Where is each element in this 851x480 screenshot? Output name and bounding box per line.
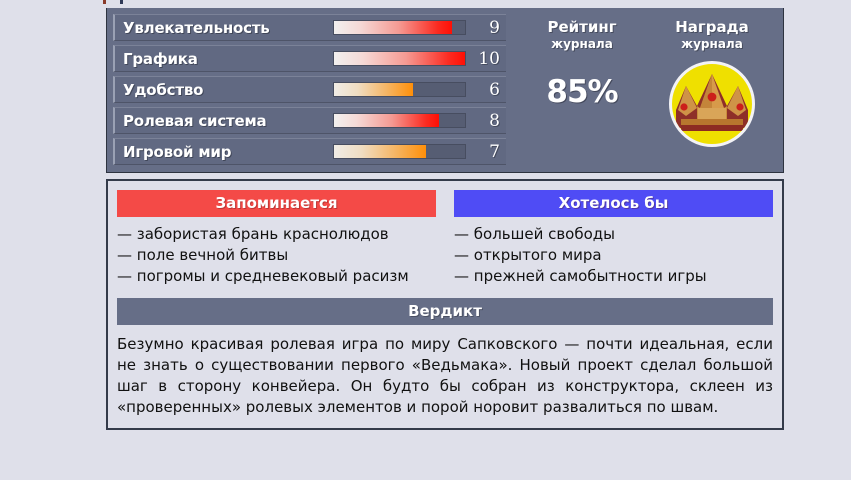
magazine-award-block: Награда журнала [647,18,777,166]
score-row: Удобство 6 [113,76,506,103]
score-value: 7 [472,142,506,162]
wants-list: — большей свободы — открытого мира — пре… [454,224,773,287]
wants-column: Хотелось бы — большей свободы — открытог… [454,190,773,287]
score-row: Графика 10 [113,45,506,72]
score-label: Ролевая система [123,112,333,130]
score-bar-track [333,20,466,35]
score-label: Увлекательность [123,19,333,37]
score-bar-fill [334,145,426,158]
award-subtitle: журнала [647,36,777,52]
likes-list: — забористая брань краснолюдов — поле ве… [117,224,436,287]
list-item: — открытого мира [454,245,773,266]
rating-subtitle: журнала [517,36,647,52]
score-rows-list: Увлекательность 9 Графика 10 Удобство 6 [107,8,511,172]
score-label: Игровой мир [123,143,333,161]
verdict-heading: Вердикт [117,298,773,325]
list-item: — прежней самобытности игры [454,266,773,287]
score-bar-fill [334,83,413,96]
score-value: 8 [472,111,506,131]
score-label: Графика [123,50,333,68]
crown-icon [672,64,752,144]
award-title: Награда [647,18,777,36]
magazine-rating-block: Рейтинг журнала 85% [517,18,647,166]
score-row: Ролевая система 8 [113,107,506,134]
score-value: 6 [472,80,506,100]
list-item: — погромы и средневековый расизм [117,266,436,287]
score-bar-fill [334,114,439,127]
stray-pixel-left [103,0,106,4]
score-row: Увлекательность 9 [113,14,506,41]
rating-title: Рейтинг [517,18,647,36]
stray-pixel-right [120,0,123,4]
score-value: 9 [472,18,506,38]
list-item: — поле вечной битвы [117,245,436,266]
score-bar-track [333,82,466,97]
game-review-scorecard: Увлекательность 9 Графика 10 Удобство 6 [106,8,784,430]
list-item: — забористая брань краснолюдов [117,224,436,245]
likes-column: Запоминается — забористая брань краснолю… [117,190,436,287]
score-bar-track [333,51,466,66]
score-value: 10 [472,49,506,69]
score-label: Удобство [123,81,333,99]
likes-heading: Запоминается [117,190,436,217]
score-bar-fill [334,52,465,65]
scores-panel: Увлекательность 9 Графика 10 Удобство 6 [106,8,784,173]
rating-award-column: Рейтинг журнала 85% Награда журнала [511,8,783,172]
score-bar-fill [334,21,452,34]
score-bar-track [333,113,466,128]
score-row: Игровой мир 7 [113,138,506,165]
pros-cons-columns: Запоминается — забористая брань краснолю… [117,190,773,287]
award-badge [669,61,755,147]
wants-heading: Хотелось бы [454,190,773,217]
score-bar-track [333,144,466,159]
notes-panel: Запоминается — забористая брань краснолю… [106,179,784,430]
list-item: — большей свободы [454,224,773,245]
verdict-text: Безумно красивая ролевая игра по миру Са… [117,334,773,418]
rating-percent-value: 85% [517,74,647,110]
